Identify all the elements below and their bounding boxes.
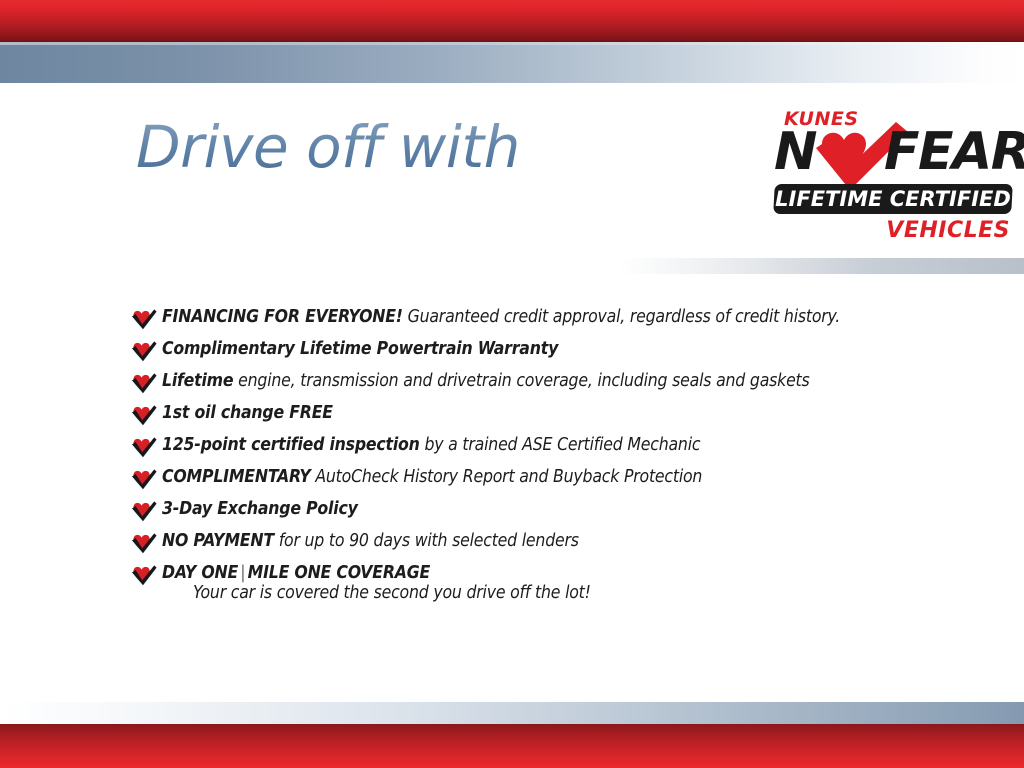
list-item: FINANCING FOR EVERYONE! Guaranteed credi…: [131, 306, 931, 332]
heart-check-icon: [131, 372, 157, 394]
logo-certified-text: LIFETIME CERTIFIED: [774, 184, 1012, 214]
headline: Drive off with Peace of Mind: [136, 116, 756, 248]
list-item-lead: FINANCING FOR EVERYONE!: [162, 307, 403, 327]
list-item-subtext: Your car is covered the second you drive…: [193, 582, 591, 605]
list-item-text: 125-point certified inspection by a trai…: [162, 434, 931, 457]
list-item-text: 1st oil change FREE: [162, 402, 931, 425]
heart-check-icon: [131, 340, 157, 362]
heart-check-icon: [131, 308, 157, 330]
headline-line-2: Peace of Mind: [196, 174, 756, 248]
bottom-gray-stripe: [0, 702, 1024, 724]
list-item-rest: engine, transmission and drivetrain cove…: [233, 371, 809, 391]
list-item-lead: 1st oil change FREE: [162, 403, 333, 423]
list-item-text: Lifetime engine, transmission and drivet…: [162, 370, 931, 393]
logo-certified-bar: LIFETIME CERTIFIED: [773, 184, 1013, 214]
top-gray-stripe: [0, 42, 1024, 83]
list-item: Lifetime engine, transmission and drivet…: [131, 370, 931, 396]
logo-word-vehicles: VEHICLES: [886, 218, 1010, 243]
list-item-text: 3-Day Exchange Policy: [162, 498, 931, 521]
list-item-lead-mile-one: MILE ONE COVERAGE: [248, 563, 430, 583]
list-item-lead-day-one: DAY ONE: [162, 563, 238, 583]
list-item-block: DAY ONE|MILE ONE COVERAGE Your car is co…: [162, 562, 591, 605]
list-item-lead: 3-Day Exchange Policy: [162, 499, 358, 519]
list-item-lead: COMPLIMENTARY: [162, 467, 311, 487]
heart-check-icon: [131, 532, 157, 554]
list-item: COMPLIMENTARY AutoCheck History Report a…: [131, 466, 931, 492]
heart-check-icon: [131, 468, 157, 490]
list-item: 125-point certified inspection by a trai…: [131, 434, 931, 460]
list-item-text: Complimentary Lifetime Powertrain Warran…: [162, 338, 931, 361]
logo-nofear-wordmark: N FEAR: [772, 126, 1016, 182]
list-item: Complimentary Lifetime Powertrain Warran…: [131, 338, 931, 364]
list-item-rest: by a trained ASE Certified Mechanic: [420, 435, 701, 455]
list-item-lead: Lifetime: [162, 371, 233, 391]
top-red-stripe: [0, 0, 1024, 42]
bottom-banner: [0, 702, 1024, 768]
list-item-lead: Complimentary Lifetime Powertrain Warran…: [162, 339, 558, 359]
headline-divider: [620, 258, 1024, 274]
bottom-red-stripe: [0, 724, 1024, 768]
list-item-text: NO PAYMENT for up to 90 days with select…: [162, 530, 931, 553]
list-item-text: FINANCING FOR EVERYONE! Guaranteed credi…: [162, 306, 931, 329]
list-item-rest: for up to 90 days with selected lenders: [274, 531, 579, 551]
list-item: 1st oil change FREE: [131, 402, 931, 428]
list-item-rest: AutoCheck History Report and Buyback Pro…: [311, 467, 703, 487]
list-item: 3-Day Exchange Policy: [131, 498, 931, 524]
list-item-text: COMPLIMENTARY AutoCheck History Report a…: [162, 466, 931, 489]
logo-word-fear: FEAR: [884, 126, 1024, 178]
headline-line-1: Drive off with: [136, 116, 756, 178]
heart-check-icon: [131, 500, 157, 522]
list-item-day-one: DAY ONE|MILE ONE COVERAGE Your car is co…: [131, 562, 931, 605]
list-item: NO PAYMENT for up to 90 days with select…: [131, 530, 931, 556]
kunes-no-fear-logo: KUNES N FEAR LIFETIME CERTIFIED VEHICLES: [772, 108, 1016, 246]
top-banner: [0, 0, 1024, 84]
list-item-separator: |: [238, 563, 248, 583]
benefits-list: FINANCING FOR EVERYONE! Guaranteed credi…: [131, 306, 931, 611]
heart-check-icon: [131, 404, 157, 426]
list-item-rest: Guaranteed credit approval, regardless o…: [403, 307, 840, 327]
list-item-lead: 125-point certified inspection: [162, 435, 420, 455]
list-item-lead: NO PAYMENT: [162, 531, 274, 551]
heart-check-icon: [131, 436, 157, 458]
heart-check-icon: [131, 564, 157, 586]
